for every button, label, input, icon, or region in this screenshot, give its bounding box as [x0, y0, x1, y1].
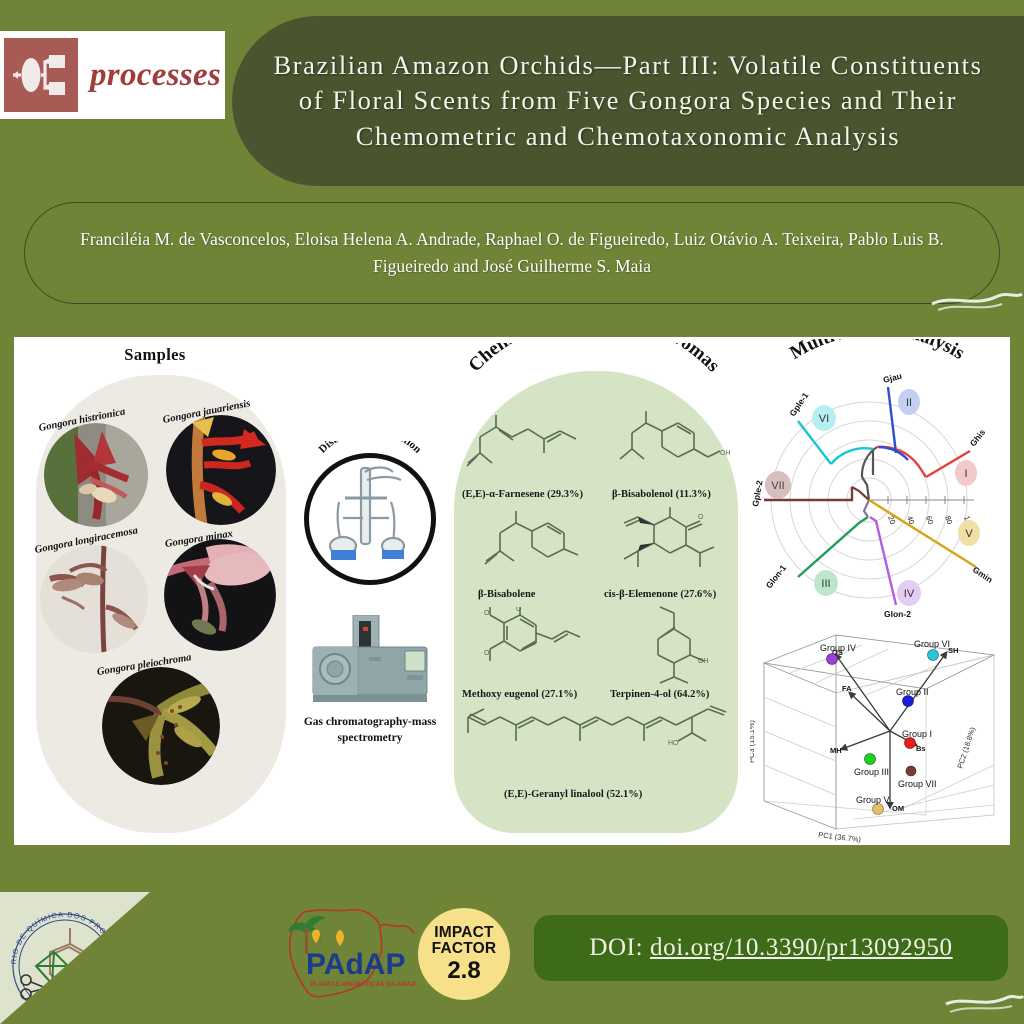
dendro-branch-glon1	[798, 517, 868, 577]
dendro-leaf-label-gjau: Gjau	[882, 371, 903, 385]
impact-factor-badge: IMPACT FACTOR 2.8	[418, 908, 510, 1000]
dendro-leaf-label-ghis: Ghis	[968, 427, 988, 448]
graphical-abstract-card: Samples	[14, 331, 1010, 851]
dendro-tick-60: 60	[924, 515, 935, 526]
padap-logo: PAdAP PLANTAS AROMÁTICAS DA AMAZÔNIA PAR…	[276, 906, 416, 1004]
page-title: Brazilian Amazon Orchids—Part III: Volat…	[258, 48, 998, 154]
pca-axis-pc1: PC1 (36.7%)	[818, 830, 862, 844]
dendro-group-VII: VII	[771, 480, 784, 492]
svg-text:Chemical composition of aromas: Chemical composition of aromas	[465, 343, 724, 376]
svg-text:OH: OH	[698, 658, 709, 665]
doi-pill[interactable]: DOI: doi.org/10.3390/pr13092950	[534, 915, 1008, 981]
structure-farnesene	[466, 409, 590, 487]
structure-methoxy-eugenol: O O O	[470, 607, 590, 685]
structure-terpinen-4-ol: OH	[626, 605, 722, 685]
compound-label-1: (E,E)-α-Farnesene (29.3%)	[462, 489, 583, 500]
compound-label-4: cis-β-Elemenone (27.6%)	[604, 589, 716, 600]
distillation-apparatus-icon	[309, 458, 431, 580]
pca-label-group-VII: Group VII	[898, 779, 937, 789]
pca-axis-pc2: PC2 (18.8%)	[955, 726, 977, 770]
svg-text:O: O	[698, 514, 704, 521]
svg-text:O: O	[484, 610, 490, 617]
pca-label-group-V: Group V	[856, 795, 890, 805]
padap-wordmark: PAdAP	[306, 948, 405, 981]
dendro-leaf-label-glon1: Glon-1	[764, 563, 789, 591]
brush-stroke-decoration-bottom	[944, 986, 1024, 1020]
doi-text: DOI: doi.org/10.3390/pr13092950	[589, 934, 952, 962]
dendrogram-scale-axis: 20 40 60 80 100	[869, 496, 975, 529]
gcms-label: Gas chromatography-mass spectrometry	[296, 715, 444, 746]
samples-panel: Samples	[14, 337, 296, 845]
orchid-photo-histrionica	[44, 423, 148, 527]
dendro-group-V: V	[965, 528, 973, 540]
dendro-group-III: III	[821, 578, 830, 590]
doi-link[interactable]: doi.org/10.3390/pr13092950	[650, 934, 953, 961]
pca-label-group-VI: Group VI	[914, 639, 950, 649]
header: Brazilian Amazon Orchids—Part III: Volat…	[0, 0, 1024, 185]
laquipna-logo-panel: LABORATÓRIO DE QUÍMICA DOS PRODUTOS NATU…	[0, 892, 150, 1024]
svg-text:O: O	[516, 607, 522, 613]
pca-axis-pc3: PC3 (15.1%)	[750, 720, 756, 763]
dendro-leaf-label-glon2: Glon-2	[884, 609, 911, 619]
chemistry-title-arc: Chemical composition of aromas	[444, 343, 744, 413]
multivariate-title: Multivariate Analysis	[786, 339, 968, 364]
svg-text:HO: HO	[668, 740, 679, 747]
gcms-instrument-icon	[309, 615, 431, 707]
pca-label-group-IV: Group IV	[820, 643, 856, 653]
structure-bisabolenol: OH	[616, 407, 732, 487]
authors-box: Franciléia M. de Vasconcelos, Eloisa Hel…	[24, 202, 1000, 304]
compound-label-5: Methoxy eugenol (27.1%)	[462, 689, 577, 700]
title-banner: Brazilian Amazon Orchids—Part III: Volat…	[232, 16, 1024, 186]
doi-prefix: DOI:	[589, 934, 650, 961]
compound-label-3: β-Bisabolene	[478, 589, 535, 600]
svg-text:OH: OH	[720, 450, 731, 457]
dendro-leaf-label-gple1: Gple-1	[787, 390, 810, 418]
svg-text:LABORATÓRIO DE QUÍMICA DOS PRO: LABORATÓRIO DE QUÍMICA DOS PRODUTOS NATU…	[6, 904, 121, 967]
distillation-apparatus-circle	[304, 453, 436, 585]
structure-bisabolene	[478, 509, 588, 585]
journal-logo-text: processes	[90, 57, 221, 94]
compound-label-6: Terpinen-4-ol (64.2%)	[610, 689, 709, 700]
pca-3d-biplot: OS SH FA MH OM Bs Group I Group II	[750, 619, 1008, 847]
orchid-photo-pleiochroma	[102, 667, 220, 785]
pca-loading-MH: MH	[830, 746, 842, 755]
dendro-group-IV: IV	[904, 588, 915, 600]
dendro-group-I: I	[964, 468, 967, 480]
pca-label-group-I: Group I	[902, 729, 932, 739]
chemistry-title: Chemical composition of aromas	[465, 343, 724, 376]
pca-loading-Bs: Bs	[916, 744, 926, 753]
structure-elemenone: O	[610, 505, 726, 585]
pca-label-group-III: Group III	[854, 767, 889, 777]
dendro-leaf-label-gmin: Gmin	[971, 564, 995, 584]
process-flow-icon	[4, 38, 78, 112]
laquipna-logo: LABORATÓRIO DE QUÍMICA DOS PRODUTOS NATU…	[6, 904, 124, 1022]
pca-label-group-II: Group II	[896, 687, 929, 697]
dendro-group-II: II	[906, 397, 912, 409]
svg-text:· LAQUIPNA ·: · LAQUIPNA ·	[35, 997, 96, 1015]
impact-factor-value: 2.8	[447, 958, 480, 983]
methods-panel: Distillation-Extraction	[296, 337, 444, 845]
orchid-photo-longiracemosa	[40, 545, 148, 653]
pca-gridlines	[764, 645, 994, 819]
svg-text:O: O	[484, 650, 490, 657]
orchid-photo-jauariensis	[166, 415, 276, 525]
pca-loading-OM: OM	[892, 804, 904, 813]
compound-label-7: (E,E)-Geranyl linalool (52.1%)	[504, 789, 642, 800]
samples-title: Samples	[14, 345, 296, 365]
dendro-branch-glon2	[870, 517, 896, 605]
dendro-leaf-label-gple2: Gple-2	[750, 479, 764, 507]
impact-factor-label-2: FACTOR	[432, 941, 497, 957]
radial-dendrogram: 20 40 60 80 100	[746, 365, 1008, 627]
author-list: Franciléia M. de Vasconcelos, Eloisa Hel…	[47, 226, 977, 280]
svg-text:Multivariate Analysis: Multivariate Analysis	[786, 339, 968, 364]
dendro-group-VI: VI	[819, 413, 829, 425]
chemistry-panel: Chemical composition of aromas (E,E)-α-F…	[444, 337, 744, 845]
structure-geranyl-linalool: HO	[462, 705, 730, 771]
orchid-photo-minax	[164, 539, 276, 651]
pca-loading-FA: FA	[842, 684, 852, 693]
padap-subtitle: PLANTAS AROMÁTICAS DA AMAZÔNIA PARAENSE	[310, 979, 416, 988]
compound-label-2: β-Bisabolenol (11.3%)	[612, 489, 711, 500]
journal-logo[interactable]: processes	[0, 31, 225, 119]
multivariate-panel: Multivariate Analysis 20 40 60	[744, 337, 1010, 845]
impact-factor-label-1: IMPACT	[434, 925, 493, 941]
